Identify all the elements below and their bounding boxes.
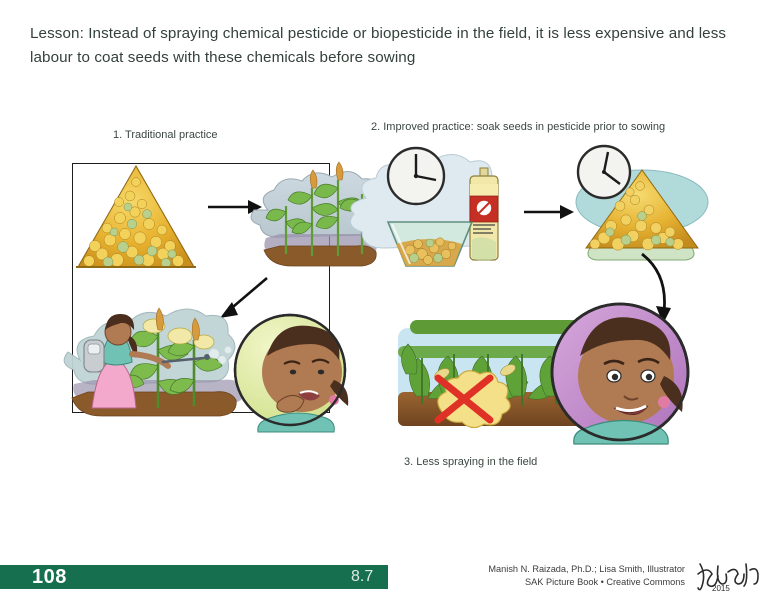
- seed-pile-icon: [76, 166, 196, 268]
- credit-line-source: SAK Picture Book • Creative Commons: [470, 576, 685, 589]
- panel-3-caption: 3. Less spraying in the field: [404, 456, 537, 468]
- panel-2-caption: 2. Improved practice: soak seeds in pest…: [371, 121, 665, 133]
- woman-spraying-illustration: [64, 308, 245, 416]
- illustrator-signature: 2015: [694, 558, 764, 594]
- section-number: 8.7: [351, 568, 373, 586]
- arrow-right-icon: [524, 205, 574, 219]
- clock-icon: [578, 146, 630, 198]
- panel-1-caption: 1. Traditional practice: [113, 129, 218, 141]
- lesson-text: Lesson: Instead of spraying chemical pes…: [30, 22, 752, 70]
- signature-year: 2015: [712, 584, 730, 593]
- arrow-diagonal-down-icon: [220, 278, 267, 318]
- clock-icon: [388, 148, 444, 204]
- seeds-soaking-bowl-icon: [388, 222, 472, 266]
- panel-1-illustration: [62, 150, 362, 430]
- inset-coughing-woman-illustration: [235, 315, 348, 432]
- pesticide-bottle-icon: [470, 168, 498, 261]
- credit-line-authors: Manish N. Raizada, Ph.D.; Lisa Smith, Il…: [470, 563, 685, 576]
- treated-seeds-group: [576, 146, 708, 260]
- slide-page: Lesson: Instead of spraying chemical pes…: [0, 0, 776, 600]
- panel-3-illustration: [398, 300, 708, 450]
- credits: Manish N. Raizada, Ph.D.; Lisa Smith, Il…: [470, 563, 685, 588]
- page-number: 108: [32, 566, 67, 589]
